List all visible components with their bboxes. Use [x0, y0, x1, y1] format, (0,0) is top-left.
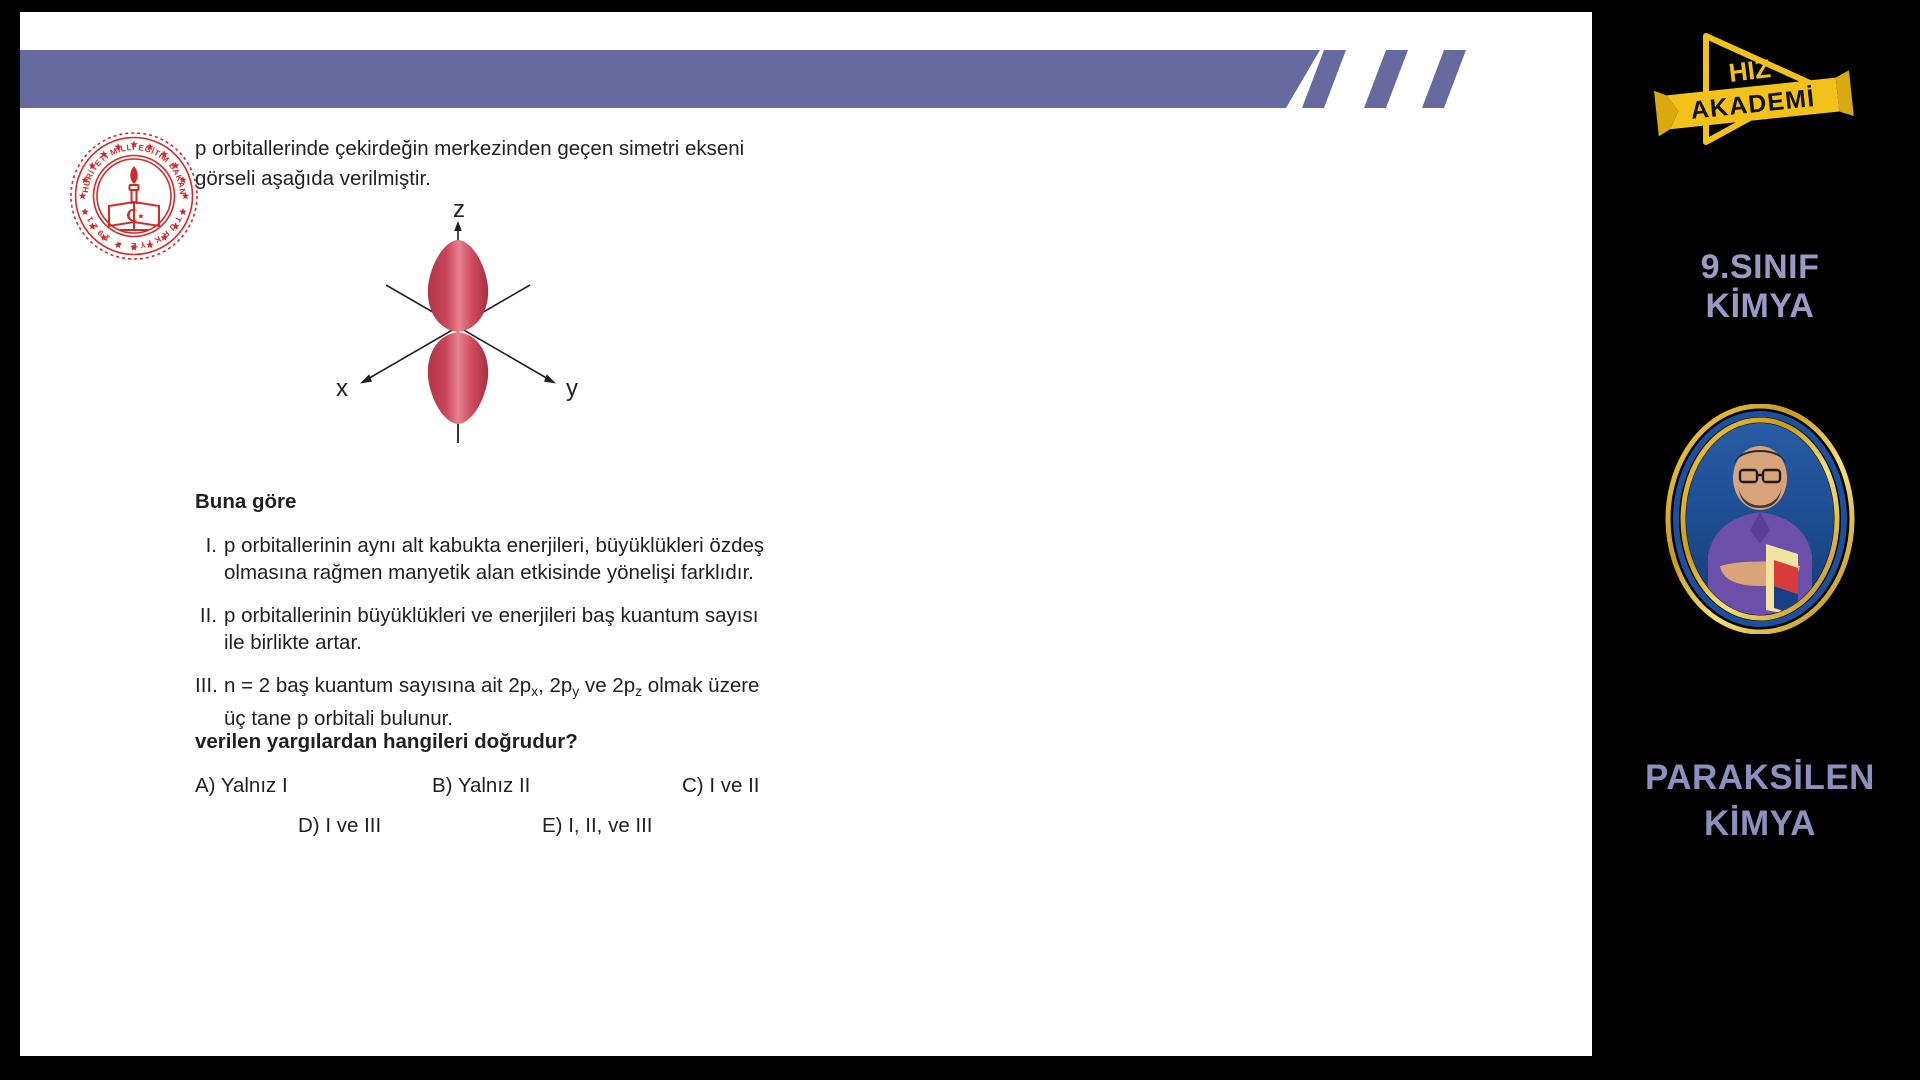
- header-slash-2: [1364, 50, 1408, 108]
- brand-line-1: PARAKSİLEN: [1600, 755, 1920, 801]
- answer-choice-e[interactable]: E) I, II, ve III: [542, 814, 653, 838]
- statement-item-3: III. n = 2 baş kuantum sayısına ait 2px,…: [195, 672, 775, 732]
- slide-root: CUMHURİYETİ MİLLİ EĞİTİM BAKANLIĞI T Ü R…: [0, 0, 1920, 1080]
- statement3-mid1: , 2p: [538, 674, 572, 697]
- answer-choices: A) Yalnız I B) Yalnız II C) I ve II D) I…: [195, 774, 795, 854]
- answer-choice-d[interactable]: D) I ve III: [298, 814, 381, 838]
- brand-label: PARAKSİLEN KİMYA: [1600, 755, 1920, 847]
- statement-text-1: p orbitallerinin aynı alt kabukta enerji…: [224, 532, 775, 586]
- answer-choice-a[interactable]: A) Yalnız I: [195, 774, 288, 798]
- axis-label-z: z: [453, 197, 465, 223]
- answer-choice-c[interactable]: C) I ve II: [682, 774, 759, 798]
- axis-label-y: y: [566, 375, 578, 402]
- right-sidebar: HIZ AKADEMİ 9.SINIF KİMYA: [1600, 0, 1920, 1080]
- answer-choices-row-1: A) Yalnız I B) Yalnız II C) I ve II: [195, 774, 795, 814]
- meb-seal-logo: CUMHURİYETİ MİLLİ EĞİTİM BAKANLIĞI T Ü R…: [68, 130, 200, 262]
- p-orbital-figure: z x y: [320, 197, 650, 462]
- header-band: [20, 50, 1320, 108]
- statement-text-3: n = 2 baş kuantum sayısına ait 2px, 2py …: [224, 672, 775, 732]
- statement-numeral-2: II.: [195, 602, 217, 656]
- statement-item-1: I. p orbitallerinin aynı alt kabukta ene…: [195, 532, 775, 586]
- question-prompt: p orbitallerinde çekirdeğin merkezinden …: [195, 134, 770, 194]
- question-line-2: görseli aşağıda verilmiştir.: [195, 164, 770, 194]
- hiz-akademi-logo: HIZ AKADEMİ: [1652, 24, 1862, 154]
- axis-label-x: x: [336, 375, 348, 402]
- header-slash-3: [1422, 50, 1466, 108]
- statement-text-2: p orbitallerinin büyüklükleri ve enerjil…: [224, 602, 775, 656]
- statement3-prefix: n = 2 baş kuantum sayısına ait 2p: [224, 674, 531, 697]
- question-line-1: p orbitallerinde çekirdeğin merkezinden …: [195, 137, 744, 160]
- question-ask-line: verilen yargılardan hangileri doğrudur?: [195, 730, 578, 754]
- answer-choice-b[interactable]: B) Yalnız II: [432, 774, 530, 798]
- answer-choices-row-2: D) I ve III E) I, II, ve III: [195, 814, 795, 854]
- grade-line-1: 9.SINIF: [1600, 248, 1920, 286]
- instructor-portrait: [1662, 404, 1858, 634]
- statements-list: I. p orbitallerinin aynı alt kabukta ene…: [195, 532, 775, 748]
- statement-numeral-3: III.: [195, 672, 217, 732]
- statement3-mid2: ve 2p: [579, 674, 635, 697]
- grade-line-2: KİMYA: [1600, 286, 1920, 326]
- brand-line-2: KİMYA: [1600, 801, 1920, 847]
- statement-item-2: II. p orbitallerinin büyüklükleri ve ene…: [195, 602, 775, 656]
- slide-page: CUMHURİYETİ MİLLİ EĞİTİM BAKANLIĞI T Ü R…: [20, 12, 1592, 1056]
- grade-subject-label: 9.SINIF KİMYA: [1600, 248, 1920, 326]
- logo-hiz-text: HIZ: [1727, 53, 1772, 88]
- statement-numeral-1: I.: [195, 532, 217, 586]
- buna-gore-heading: Buna göre: [195, 490, 296, 514]
